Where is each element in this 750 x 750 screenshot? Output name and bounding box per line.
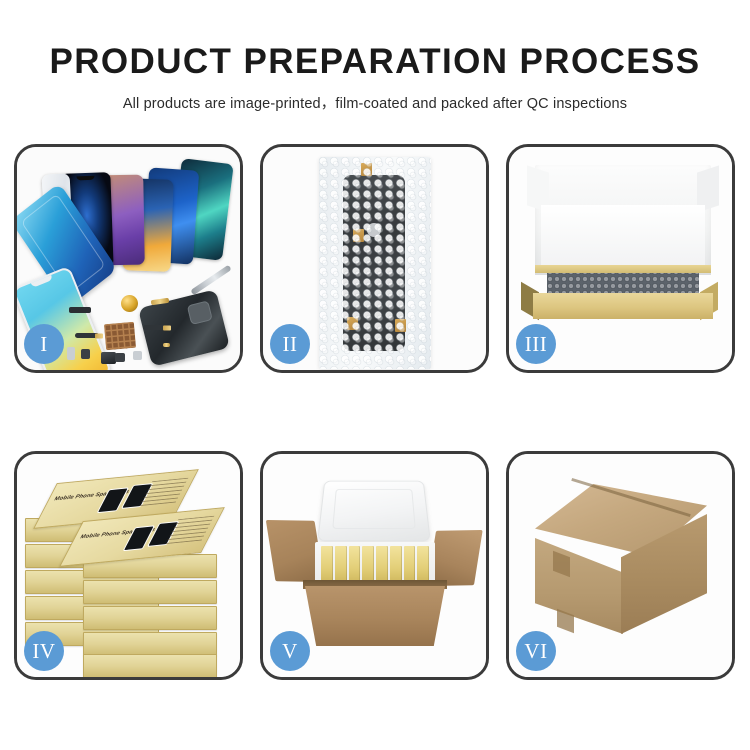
chip-board bbox=[104, 322, 136, 351]
page-subtitle: All products are image-printed，film-coat… bbox=[0, 82, 750, 113]
carton-front-face bbox=[305, 586, 445, 646]
lid-text-lines-rear bbox=[139, 478, 188, 507]
process-step-grid: I II bbox=[14, 144, 736, 680]
camera-module bbox=[81, 349, 90, 359]
box-edge-front-3 bbox=[83, 606, 217, 630]
lid-text-lines-front bbox=[165, 516, 214, 545]
header: PRODUCT PREPARATION PROCESS All products… bbox=[0, 0, 750, 130]
step-panel-6[interactable]: VI bbox=[506, 451, 735, 680]
bubble-texture-overlay bbox=[319, 157, 431, 369]
step-badge-3: III bbox=[516, 324, 556, 364]
step-badge-6: VI bbox=[516, 631, 556, 671]
spare-part-bar bbox=[69, 307, 91, 313]
foam-sheet bbox=[541, 205, 705, 271]
step-panel-3[interactable]: III bbox=[506, 144, 735, 373]
foam-box-lid bbox=[317, 481, 431, 542]
box-rim bbox=[535, 265, 711, 273]
loudspeaker-part bbox=[101, 352, 116, 364]
box-edge-front-4 bbox=[83, 632, 217, 656]
product-preparation-infographic: PRODUCT PREPARATION PROCESS All products… bbox=[0, 0, 750, 750]
box-front-face bbox=[533, 293, 713, 319]
step-badge-1: I bbox=[24, 324, 64, 364]
vibration-motor bbox=[115, 353, 125, 362]
step-panel-1[interactable]: I bbox=[14, 144, 243, 373]
page-title: PRODUCT PREPARATION PROCESS bbox=[0, 0, 750, 82]
screw-set bbox=[163, 343, 170, 347]
speaker-module-round bbox=[121, 295, 138, 312]
step-panel-4[interactable]: Mobile Phone Spare Parts Mobile Phone Sp… bbox=[14, 451, 243, 680]
step-badge-4: IV bbox=[24, 631, 64, 671]
carton-flap-right bbox=[427, 530, 482, 586]
small-bracket bbox=[133, 351, 142, 360]
box-edge-front-2 bbox=[83, 580, 217, 604]
step-badge-2: II bbox=[270, 324, 310, 364]
box-edge-front-5 bbox=[83, 654, 217, 677]
step-badge-5: V bbox=[270, 631, 310, 671]
step-panel-5[interactable]: V bbox=[260, 451, 489, 680]
step-panel-2[interactable]: II bbox=[260, 144, 489, 373]
flex-cable-a bbox=[75, 333, 99, 338]
bubble-wrapped-package bbox=[319, 157, 431, 369]
flex-cable-b bbox=[143, 325, 167, 330]
sim-tray bbox=[67, 347, 75, 360]
